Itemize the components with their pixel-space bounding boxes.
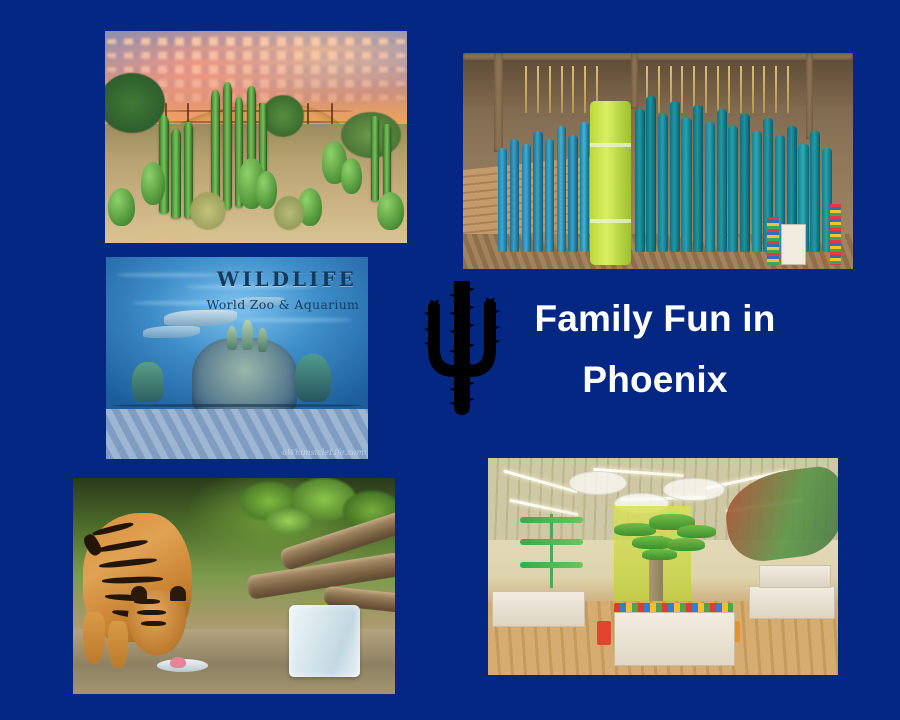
cloud-band <box>105 37 407 46</box>
photo-wildlife-world-zoo-aquarium[interactable]: WILDLIFE World Zoo & Aquarium aWhimsicle… <box>106 257 368 459</box>
tiger-ear <box>131 586 147 601</box>
tiger-foreleg <box>83 612 106 664</box>
watermark: aWhimsicleLife.com <box>282 448 364 457</box>
photo-tiger-with-ice[interactable] <box>73 478 395 694</box>
exhibit-counter-right <box>749 586 835 618</box>
shelf-unit <box>759 565 831 589</box>
wildlife-subheadline: World Zoo & Aquarium <box>200 297 365 312</box>
wildlife-headline: WILDLIFE <box>211 269 363 289</box>
poster-canvas: WILDLIFE World Zoo & Aquarium aWhimsicle… <box>0 0 900 720</box>
green-hanging-mobile <box>520 514 583 588</box>
tiger-foreleg <box>108 621 127 669</box>
exhibit-sign <box>781 224 806 265</box>
photo-childrens-museum[interactable] <box>488 458 838 675</box>
play-table <box>614 612 735 666</box>
hanging-cloud-sculpture <box>569 471 627 495</box>
striped-banner <box>830 204 842 264</box>
green-noodle-column <box>590 101 631 265</box>
cloud-band <box>105 65 407 74</box>
cloud-band <box>105 51 407 60</box>
child-chair <box>597 621 611 645</box>
photo-pool-noodle-exhibit[interactable] <box>463 53 853 269</box>
striped-banner <box>767 217 779 265</box>
ice-block <box>289 605 360 676</box>
photo-desert-botanical-garden[interactable] <box>105 31 407 243</box>
saguaro-cactus-icon <box>424 281 500 423</box>
tiger-tongue <box>170 657 186 668</box>
hanging-cloud-sculpture <box>663 478 725 502</box>
exhibit-counter-left <box>492 591 585 628</box>
poster-title: Family Fun in Phoenix <box>505 288 805 410</box>
shark <box>143 326 201 338</box>
tiger-ear <box>170 586 186 601</box>
title-line-2: Phoenix <box>505 349 805 410</box>
title-line-1: Family Fun in <box>505 288 805 349</box>
